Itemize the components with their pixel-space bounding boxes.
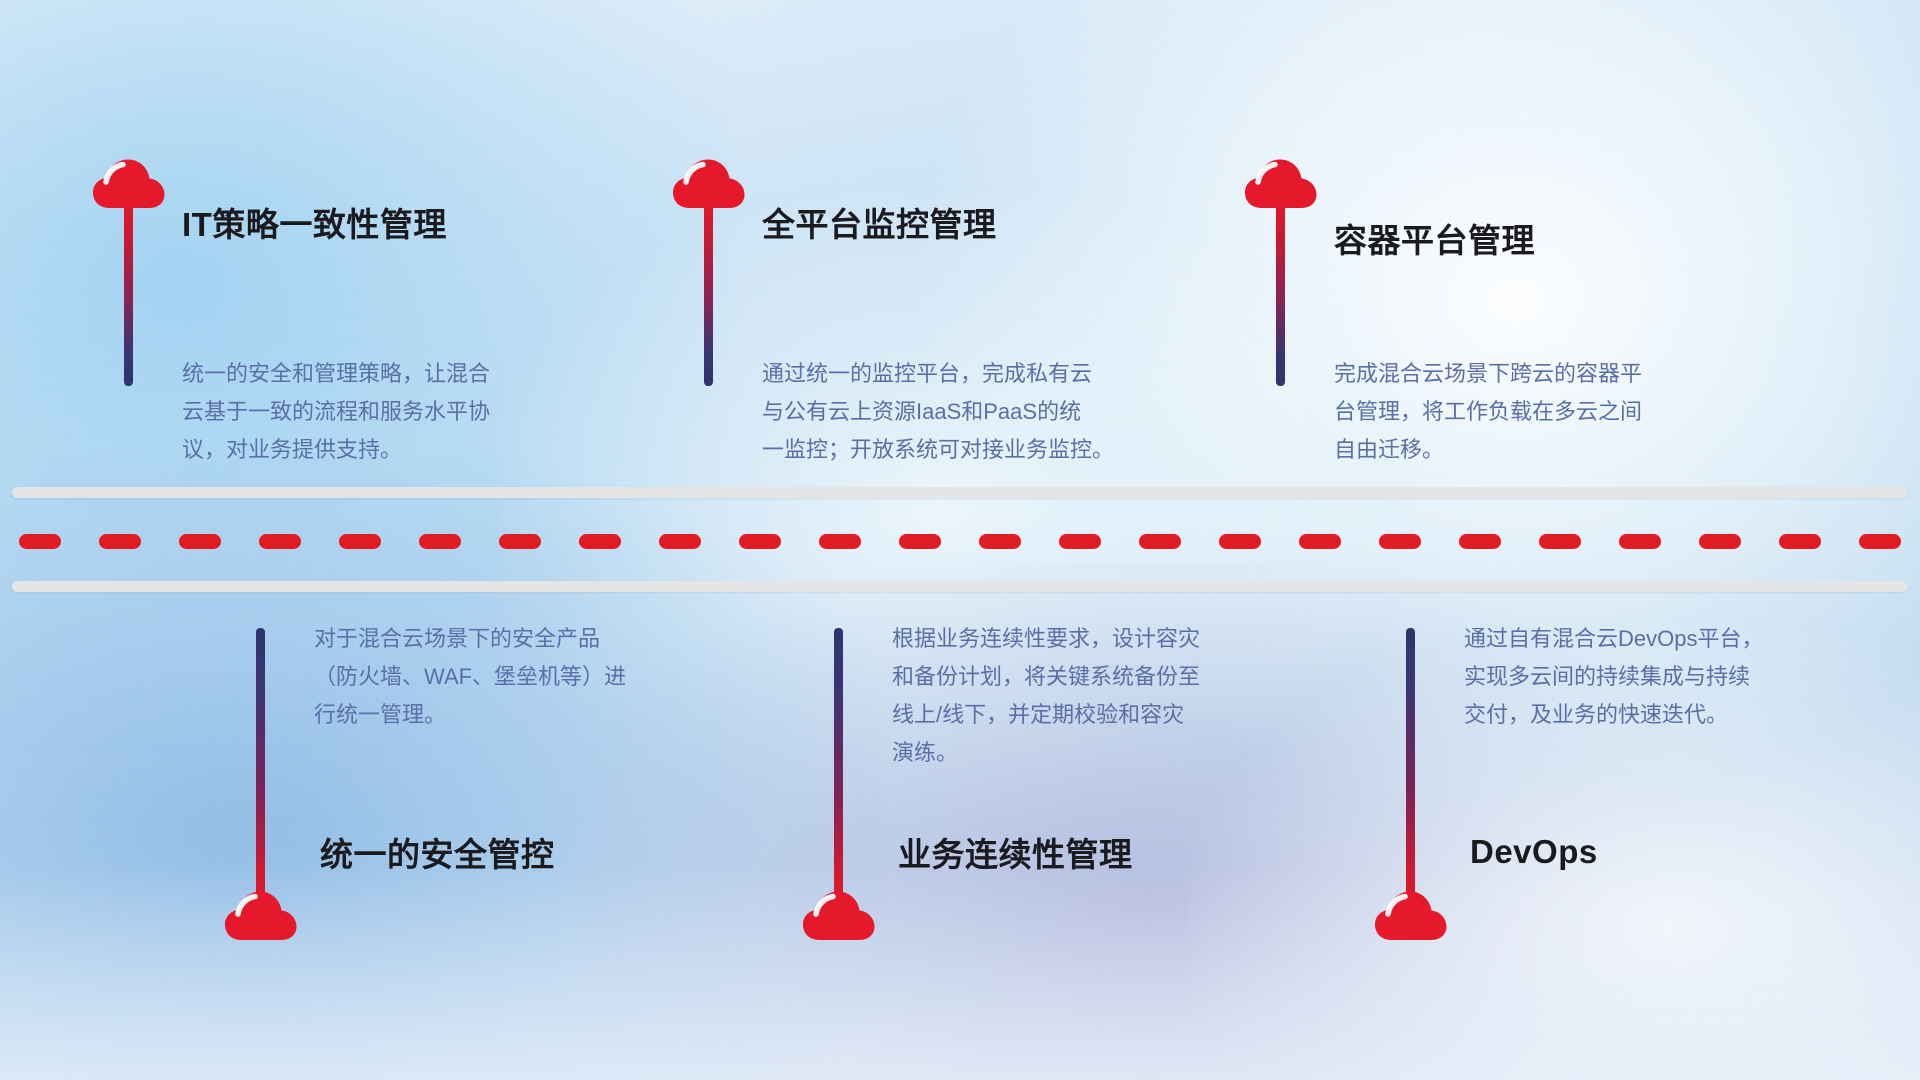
road-edge-bottom — [12, 581, 1908, 592]
top-column-1-heading: IT策略一致性管理 — [182, 198, 447, 246]
road-dash — [1379, 534, 1421, 549]
road-dash — [259, 534, 301, 549]
road-divider — [0, 487, 1920, 599]
road-dash — [1619, 534, 1661, 549]
road-dash — [579, 534, 621, 549]
road-dash — [739, 534, 781, 549]
bottom-column-2-heading: 业务连续性管理 — [898, 828, 1133, 876]
road-dash — [1859, 534, 1901, 549]
road-dash — [99, 534, 141, 549]
road-dash-track — [0, 534, 1920, 549]
bottom-column-3-body: 通过自有混合云DevOps平台， 实现多云间的持续集成与持续 交付，及业务的快速… — [1464, 620, 1894, 734]
connector-line — [834, 628, 843, 918]
road-edge-top — [12, 487, 1908, 498]
road-dash — [1219, 534, 1261, 549]
road-dash — [1299, 534, 1341, 549]
road-dash — [179, 534, 221, 549]
top-column-3-body: 完成混合云场景下跨云的容器平 台管理，将工作负载在多云之间 自由迁移。 — [1334, 355, 1764, 469]
top-column-1-body: 统一的安全和管理策略，让混合 云基于一致的流程和服务水平协 议，对业务提供支持。 — [182, 355, 612, 469]
connector-line — [704, 196, 713, 386]
cloud-icon — [224, 890, 298, 942]
bottom-column-1-heading: 统一的安全管控 — [320, 828, 555, 876]
road-dash — [1139, 534, 1181, 549]
road-dash — [979, 534, 1021, 549]
top-column-2-heading: 全平台监控管理 — [762, 198, 997, 246]
infographic-canvas: IT策略一致性管理 统一的安全和管理策略，让混合 云基于一致的流程和服务水平协 … — [0, 0, 1920, 1080]
road-dash — [1539, 534, 1581, 549]
road-dash — [19, 534, 61, 549]
bottom-column-1-body: 对于混合云场景下的安全产品 （防火墙、WAF、堡垒机等）进 行统一管理。 — [314, 620, 744, 734]
road-dash — [339, 534, 381, 549]
connector-line — [1276, 196, 1285, 386]
road-dash — [419, 534, 461, 549]
road-dash — [819, 534, 861, 549]
top-column-3-heading: 容器平台管理 — [1334, 214, 1535, 262]
connector-line — [124, 196, 133, 386]
connector-line — [256, 628, 265, 918]
cloud-icon — [1374, 890, 1448, 942]
road-dash — [1699, 534, 1741, 549]
road-dash — [1779, 534, 1821, 549]
top-column-2-body: 通过统一的监控平台，完成私有云 与公有云上资源IaaS和PaaS的统 一监控；开… — [762, 355, 1212, 469]
connector-line — [1406, 628, 1415, 918]
road-dash — [499, 534, 541, 549]
bottom-column-2-body: 根据业务连续性要求，设计容灾 和备份计划，将关键系统备份至 线上/线下，并定期校… — [892, 620, 1332, 772]
cloud-icon — [802, 890, 876, 942]
bottom-column-3-heading: DevOps — [1470, 833, 1598, 871]
road-dash — [659, 534, 701, 549]
road-dash — [1059, 534, 1101, 549]
road-dash — [899, 534, 941, 549]
road-dash — [1459, 534, 1501, 549]
